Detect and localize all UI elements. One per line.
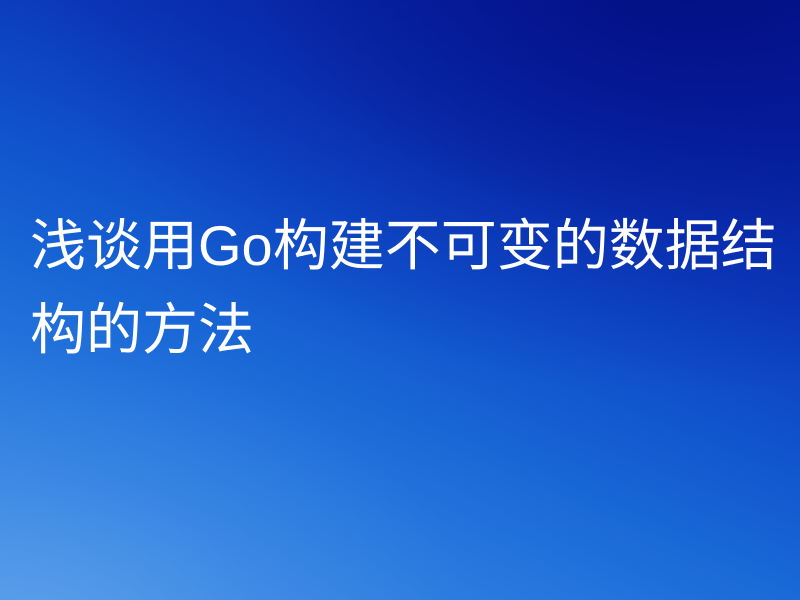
- title-block: 浅谈用Go构建不可变的数据结构的方法: [30, 204, 778, 372]
- cover-banner: 浅谈用Go构建不可变的数据结构的方法: [0, 0, 800, 600]
- cover-title: 浅谈用Go构建不可变的数据结构的方法: [30, 204, 778, 372]
